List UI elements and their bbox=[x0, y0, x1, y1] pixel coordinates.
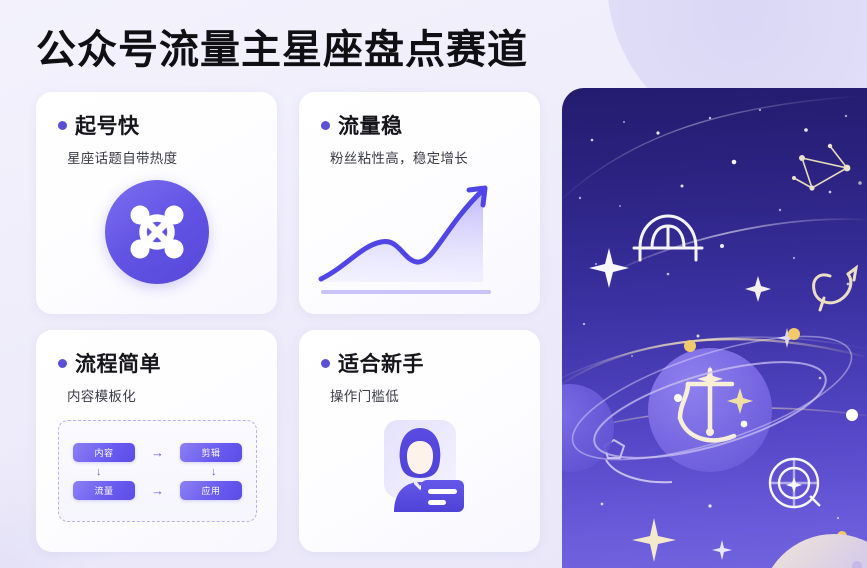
target-orbit-glyph bbox=[770, 459, 820, 507]
flow-arrow-right-top: → bbox=[151, 446, 164, 459]
feature-card-shihe-xinshou[interactable]: 适合新手 操作门槛低 bbox=[299, 330, 540, 552]
orbit-bead-white bbox=[846, 409, 858, 421]
poster-root: 公众号流量主星座盘点赛道 起号快 星座话题自带热度 bbox=[0, 0, 867, 568]
card-title: 起号快 bbox=[75, 110, 140, 140]
card-title: 流量稳 bbox=[338, 110, 403, 140]
feature-card-qihao-kuai[interactable]: 起号快 星座话题自带热度 bbox=[36, 92, 277, 314]
network-node-glyph bbox=[105, 180, 209, 284]
growth-chart bbox=[299, 174, 540, 314]
planet-dot-2 bbox=[706, 428, 714, 436]
bullet-dot-icon bbox=[58, 359, 67, 368]
orbit-bead-2 bbox=[788, 328, 800, 340]
sparkle-star-small bbox=[712, 540, 732, 560]
space-scene bbox=[562, 88, 867, 568]
content-card-line-1 bbox=[428, 489, 457, 494]
sparkle-star-gold bbox=[632, 518, 676, 562]
card-subtitle: 内容模板化 bbox=[36, 378, 277, 405]
avatar-face bbox=[407, 441, 433, 474]
card-artwork bbox=[36, 174, 277, 314]
card-subtitle: 操作门槛低 bbox=[299, 378, 540, 405]
flow-node-2[interactable]: 剪辑 bbox=[180, 443, 242, 462]
flow-diagram: 内容 → 剪辑 流量 → 应用 ↓ ↓ bbox=[58, 420, 257, 522]
chart-baseline bbox=[321, 290, 491, 294]
flow-arrow-down-left: ↓ bbox=[96, 467, 102, 478]
flow-node-3[interactable]: 流量 bbox=[73, 481, 135, 500]
orbit-bead-1 bbox=[684, 340, 696, 352]
feature-card-liucheng-jiandan[interactable]: 流程简单 内容模板化 内容 → 剪辑 流量 → 应用 ↓ ↓ bbox=[36, 330, 277, 552]
content-card-line-2 bbox=[428, 500, 446, 505]
page-title: 公众号流量主星座盘点赛道 bbox=[36, 17, 528, 75]
flow-arrow-down-right: ↓ bbox=[211, 467, 217, 478]
card-title: 流程简单 bbox=[75, 348, 161, 378]
flow-grid: 内容 → 剪辑 流量 → 应用 bbox=[59, 421, 256, 521]
center-zodiac-planet bbox=[648, 348, 772, 472]
feature-card-grid: 起号快 星座话题自带热度 bbox=[36, 92, 540, 552]
chart-area-fill bbox=[321, 190, 483, 282]
card-artwork bbox=[299, 412, 540, 552]
card-header: 起号快 bbox=[36, 92, 277, 140]
person-avatar-glyph bbox=[372, 416, 468, 520]
card-header: 适合新手 bbox=[299, 330, 540, 378]
sparkle-star bbox=[745, 276, 771, 302]
growth-chart-glyph bbox=[299, 174, 540, 314]
flow-arrow-right-bottom: → bbox=[151, 484, 164, 497]
card-artwork bbox=[299, 174, 540, 314]
bullet-dot-icon bbox=[321, 359, 330, 368]
feature-card-liuliang-wen[interactable]: 流量稳 粉丝粘性高，稳定增长 bbox=[299, 92, 540, 314]
sagittarius-constellation bbox=[792, 144, 862, 191]
card-subtitle: 星座话题自带热度 bbox=[36, 140, 277, 167]
flow-node-1[interactable]: 内容 bbox=[73, 443, 135, 462]
bullet-dot-icon bbox=[58, 121, 67, 130]
person-avatar-icon bbox=[372, 416, 468, 516]
bullet-dot-icon bbox=[321, 121, 330, 130]
card-subtitle: 粉丝粘性高，稳定增长 bbox=[299, 140, 540, 167]
planet-dot-3 bbox=[741, 421, 748, 428]
card-header: 流量稳 bbox=[299, 92, 540, 140]
card-header: 流程简单 bbox=[36, 330, 277, 378]
planet-dot-1 bbox=[674, 394, 682, 402]
network-node-icon bbox=[105, 180, 209, 284]
flow-node-4[interactable]: 应用 bbox=[180, 481, 242, 500]
sparkle-star-large bbox=[589, 248, 629, 288]
zodiac-space-illustration bbox=[562, 88, 867, 568]
card-artwork: 内容 → 剪辑 流量 → 应用 ↓ ↓ bbox=[36, 412, 277, 552]
content-card-icon bbox=[421, 480, 464, 512]
scorpio-glyph bbox=[814, 268, 856, 310]
libra-glyph bbox=[634, 216, 702, 260]
card-title: 适合新手 bbox=[338, 348, 424, 378]
star-field bbox=[579, 109, 850, 541]
saturn-planet-bottom-right bbox=[719, 534, 867, 568]
